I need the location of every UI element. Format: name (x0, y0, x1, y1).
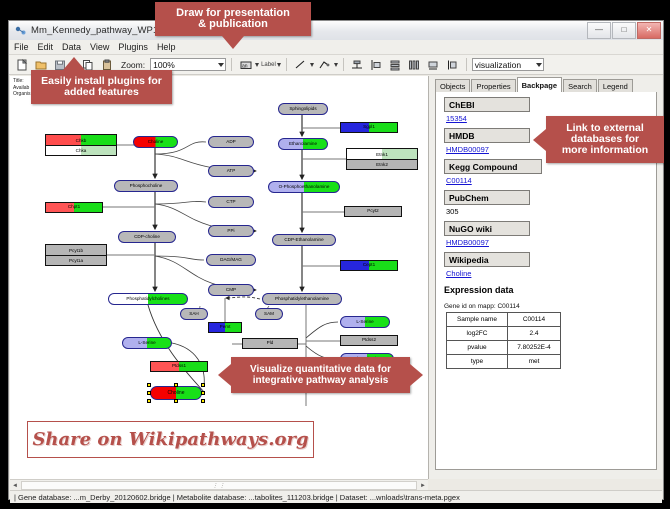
toolbar-divider-3 (286, 58, 287, 71)
scroll-track[interactable]: ⋮⋮ (21, 481, 417, 490)
pathway-gene-ptdss1[interactable]: Ptdss1 (150, 361, 208, 372)
node-label: Phosphatidylethanolamine (275, 297, 329, 302)
gene-row-chkb[interactable]: Chkb (46, 135, 116, 145)
table-row: log2FC 2.4 (447, 327, 561, 341)
toolbar-divider-5 (466, 58, 467, 71)
window-controls: — □ ✕ (587, 22, 661, 39)
gene-row-etnk2[interactable]: Etnk2 (347, 159, 417, 169)
chevron-down-icon (536, 63, 542, 67)
node-label: ADP (226, 140, 235, 145)
callout-visualize-arrow-right-icon (410, 364, 423, 386)
pathway-gene-pcyt2[interactable]: Pcyt2 (344, 206, 402, 217)
node-label: Ethanolamine (289, 142, 317, 147)
callout-links: Link to external databases for more info… (546, 116, 664, 163)
table-row: type met (447, 355, 561, 369)
node-label: Choline (168, 391, 185, 396)
node-label: ATP (227, 169, 236, 174)
node-label: Pld (267, 341, 274, 346)
node-label: SAH (189, 312, 198, 317)
pathway-node-choline-top[interactable]: Choline (133, 136, 178, 148)
expr-val-log2fc: 2.4 (508, 327, 561, 341)
callout-visualize: Visualize quantitative data for integrat… (231, 357, 410, 393)
expr-key-type: type (447, 355, 508, 369)
menu-item-view[interactable]: View (90, 42, 109, 52)
gene-row-pcyt1b[interactable]: Pcyt1b (46, 245, 106, 255)
pathway-node-choline-selected[interactable]: Choline (150, 386, 202, 400)
callout-plugins: Easily install plugins for added feature… (31, 70, 172, 104)
db-link-nugo[interactable]: HMDB00097 (446, 238, 656, 247)
scroll-left-arrow[interactable]: ◄ (10, 481, 20, 490)
callout-draw-line2: & publication (198, 19, 268, 30)
node-label: Etnk1 (376, 152, 388, 157)
chevron-down-icon (277, 63, 281, 67)
pathway-node-l-serine-right[interactable]: L-Serine (340, 316, 390, 328)
selected-node-choline[interactable]: Choline (150, 386, 202, 400)
pathway-node-ppi[interactable]: PPi (208, 225, 254, 237)
node-label: SAM (264, 312, 274, 317)
tab-objects[interactable]: Objects (435, 79, 470, 92)
pathway-gene-group-chk[interactable]: Chkb Chka (45, 134, 117, 156)
menu-bar: File Edit Data View Plugins Help (9, 40, 663, 55)
node-label: Pemt (220, 325, 231, 330)
pathway-node-phosphatidylethanolamine[interactable]: Phosphatidylethanolamine (262, 293, 342, 305)
distribute-icon[interactable] (406, 56, 423, 73)
datanode-tool[interactable]: an (237, 56, 259, 73)
gene-row-etnk1[interactable]: Etnk1 (347, 149, 417, 159)
expr-key-pvalue: pvalue (447, 341, 508, 355)
node-label: Ptdss1 (172, 364, 186, 369)
tab-legend[interactable]: Legend (598, 79, 633, 92)
callout-links-arrow-icon (533, 129, 546, 151)
resize-handle-se[interactable] (201, 399, 205, 403)
expression-table: Sample name C00114 log2FC 2.4 pvalue 7.8… (446, 312, 561, 369)
node-label: Pcyt1b (69, 248, 83, 253)
side-panel-tabs: Objects Properties Backpage Search Legen… (435, 78, 634, 92)
node-label: Etnk2 (376, 162, 388, 167)
resize-handle-s[interactable] (174, 399, 178, 403)
zoom-label: Zoom: (121, 60, 145, 70)
callout-plugins-line2: added features (64, 87, 139, 98)
screenshot-root: Mm_Kennedy_pathway_WP1771_45176.gpml — □… (0, 0, 670, 509)
pathway-node-phosphocholine[interactable]: Phosphocholine (114, 180, 178, 192)
node-label: PPi (227, 229, 234, 234)
node-label: L-Serine (356, 320, 373, 325)
visualization-value: visualization (475, 60, 521, 70)
node-label: Phosphocholine (130, 184, 163, 189)
label-tool-text: Label (261, 62, 276, 68)
pathway-node-cdp-choline[interactable]: CDP-choline (118, 231, 176, 243)
node-label: CMP (226, 288, 236, 293)
expr-val-pvalue: 7.80252E-4 (508, 341, 561, 355)
label-tool[interactable]: Label (261, 62, 281, 68)
tab-search[interactable]: Search (563, 79, 597, 92)
db-value-pubchem: 305 (446, 207, 656, 216)
expr-val-type: met (508, 355, 561, 369)
chevron-down-icon (218, 63, 224, 67)
node-label: Ptdss2 (362, 338, 376, 343)
pathway-gene-group-etnk[interactable]: Etnk1 Etnk2 (346, 148, 418, 170)
pathway-node-o-phosphoethanolamine[interactable]: O-Phosphoethanolamine (268, 181, 340, 193)
datanode-icon[interactable]: an (237, 56, 254, 73)
node-label: Chkb (76, 138, 87, 143)
pathway-node-phosphatidylcholines[interactable]: Phosphatidylcholines (108, 293, 188, 305)
status-bar: | Gene database: ...m_Derby_20120602.bri… (10, 490, 662, 503)
menu-item-data[interactable]: Data (62, 42, 81, 52)
callout-draw-arrow-icon (222, 36, 244, 49)
db-header-hmdb: HMDB (444, 128, 530, 143)
node-label: Pcyt2 (367, 209, 379, 214)
title-bar: Mm_Kennedy_pathway_WP1771_45176.gpml — □… (9, 21, 663, 41)
node-label: Chpt1 (68, 205, 80, 210)
menu-item-edit[interactable]: Edit (38, 42, 54, 52)
scroll-grip-icon: ⋮⋮ (212, 482, 226, 489)
pathway-node-l-serine-left[interactable]: L-Serine (122, 337, 172, 349)
close-button[interactable]: ✕ (637, 22, 661, 39)
resize-handle-ne[interactable] (201, 383, 205, 387)
resize-handle-e[interactable] (201, 391, 205, 395)
db-header-pubchem: PubChem (444, 190, 530, 205)
share-banner: Share on Wikipathways.org (27, 421, 314, 458)
pathway-gene-sgpl1[interactable]: Sgpl1 (340, 122, 398, 133)
stack-icon[interactable] (387, 56, 404, 73)
callout-visualize-line2: integrative pathway analysis (253, 375, 389, 386)
callout-links-line3: more information (562, 145, 648, 156)
line-icon[interactable] (292, 56, 309, 73)
new-file-icon[interactable] (13, 56, 30, 73)
db-header-chebi: ChEBI (444, 97, 530, 112)
pathway-gene-chpt1[interactable]: Chpt1 (45, 202, 103, 213)
maximize-button[interactable]: □ (612, 22, 636, 39)
db-header-kegg: Kegg Compound (444, 159, 542, 174)
toolbar-divider-4 (343, 58, 344, 71)
callout-draw: Draw for presentation & publication (155, 2, 311, 36)
pathway-gene-pemt[interactable]: Pemt (208, 322, 242, 333)
pathway-node-sah[interactable]: SAH (180, 308, 208, 320)
chevron-down-icon (334, 63, 338, 67)
gene-row-chka[interactable]: Chka (46, 145, 116, 155)
node-label: CTP (226, 200, 235, 205)
pathway-node-ctp[interactable]: CTP (208, 196, 254, 208)
table-row: pvalue 7.80252E-4 (447, 341, 561, 355)
menu-item-file[interactable]: File (14, 42, 29, 52)
pathway-gene-group-pcyt1[interactable]: Pcyt1b Pcyt1a (45, 244, 107, 266)
db-link-wikipedia[interactable]: Choline (446, 269, 656, 278)
svg-text:an: an (242, 63, 248, 69)
pathway-node-sam[interactable]: SAM (255, 308, 283, 320)
menu-item-plugins[interactable]: Plugins (118, 42, 148, 52)
resize-handle-nw[interactable] (147, 383, 151, 387)
pathway-gene-cept1[interactable]: Cept1 (340, 260, 398, 271)
node-label: Chka (76, 148, 87, 153)
node-label: Sphingolipids (289, 107, 316, 112)
pathway-gene-ptdss2[interactable]: Ptdss2 (340, 335, 398, 346)
line-tool[interactable] (292, 56, 314, 73)
node-label: CDP-choline (134, 235, 160, 240)
tab-properties[interactable]: Properties (471, 79, 515, 92)
callout-visualize-line1: Visualize quantitative data for (250, 364, 391, 375)
zoom-value: 100% (153, 60, 175, 70)
node-label: Pcyt1a (69, 258, 83, 263)
resize-handle-n[interactable] (174, 383, 178, 387)
node-label: L-Serine (138, 341, 155, 346)
tab-backpage[interactable]: Backpage (517, 77, 562, 92)
node-label: Sgpl1 (363, 125, 375, 130)
db-link-kegg[interactable]: C00114 (446, 176, 656, 185)
pathway-node-ethanolamine-top[interactable]: Ethanolamine (278, 138, 328, 150)
interaction-tool[interactable] (316, 56, 338, 73)
order-icon[interactable] (444, 56, 461, 73)
pathway-node-atp[interactable]: ATP (208, 165, 254, 177)
pathway-node-dagmag[interactable]: DAG/MAG (206, 254, 256, 266)
db-header-nugo: NuGO wiki (444, 221, 530, 236)
node-label: O-Phosphoethanolamine (279, 185, 330, 190)
meta-organism: Organis (13, 91, 31, 98)
gene-id-on-mapp: Gene id on mapp: C00114 (444, 303, 656, 310)
expr-val-sample: C00114 (508, 313, 561, 327)
table-row: Sample name C00114 (447, 313, 561, 327)
pathway-metadata: Title: Availab Organis (13, 78, 31, 98)
expression-data-heading: Expression data (444, 285, 656, 295)
resize-handle-w[interactable] (147, 391, 151, 395)
interaction-icon[interactable] (316, 56, 333, 73)
align-center-icon[interactable] (349, 56, 366, 73)
expr-key-sample: Sample name (447, 313, 508, 327)
node-label: Cept1 (363, 263, 375, 268)
visualization-combobox[interactable]: visualization (472, 58, 544, 71)
pathway-gene-pld[interactable]: Pld (242, 338, 298, 349)
application-icon (14, 24, 27, 37)
db-header-wikipedia: Wikipedia (444, 252, 530, 267)
pathway-node-sphingolipids[interactable]: Sphingolipids (278, 103, 328, 115)
gene-row-pcyt1a[interactable]: Pcyt1a (46, 255, 106, 265)
node-label: DAG/MAG (220, 258, 242, 263)
callout-plugins-arrow-icon (63, 57, 85, 70)
menu-item-help[interactable]: Help (157, 42, 176, 52)
group-icon[interactable] (425, 56, 442, 73)
node-label: Choline (148, 140, 164, 145)
resize-handle-sw[interactable] (147, 399, 151, 403)
pathway-canvas[interactable]: Title: Availab Organis (10, 76, 429, 479)
callout-visualize-arrow-left-icon (218, 364, 231, 386)
scroll-right-arrow[interactable]: ► (418, 481, 428, 490)
pathway-node-adp[interactable]: ADP (208, 136, 254, 148)
align-left-icon[interactable] (368, 56, 385, 73)
share-banner-text: Share on Wikipathways.org (32, 429, 308, 450)
toolbar-divider-2 (231, 58, 232, 71)
expr-key-log2fc: log2FC (447, 327, 508, 341)
minimize-button[interactable]: — (587, 22, 611, 39)
pathway-node-cmp[interactable]: CMP (208, 284, 254, 296)
node-label: CDP-Ethanolamine (284, 238, 323, 243)
node-label: Phosphatidylcholines (126, 297, 169, 302)
chevron-down-icon (255, 63, 259, 67)
chevron-down-icon (310, 63, 314, 67)
pathway-node-cdp-ethanolamine[interactable]: CDP-Ethanolamine (272, 234, 336, 246)
status-text: | Gene database: ...m_Derby_20120602.bri… (10, 493, 460, 502)
